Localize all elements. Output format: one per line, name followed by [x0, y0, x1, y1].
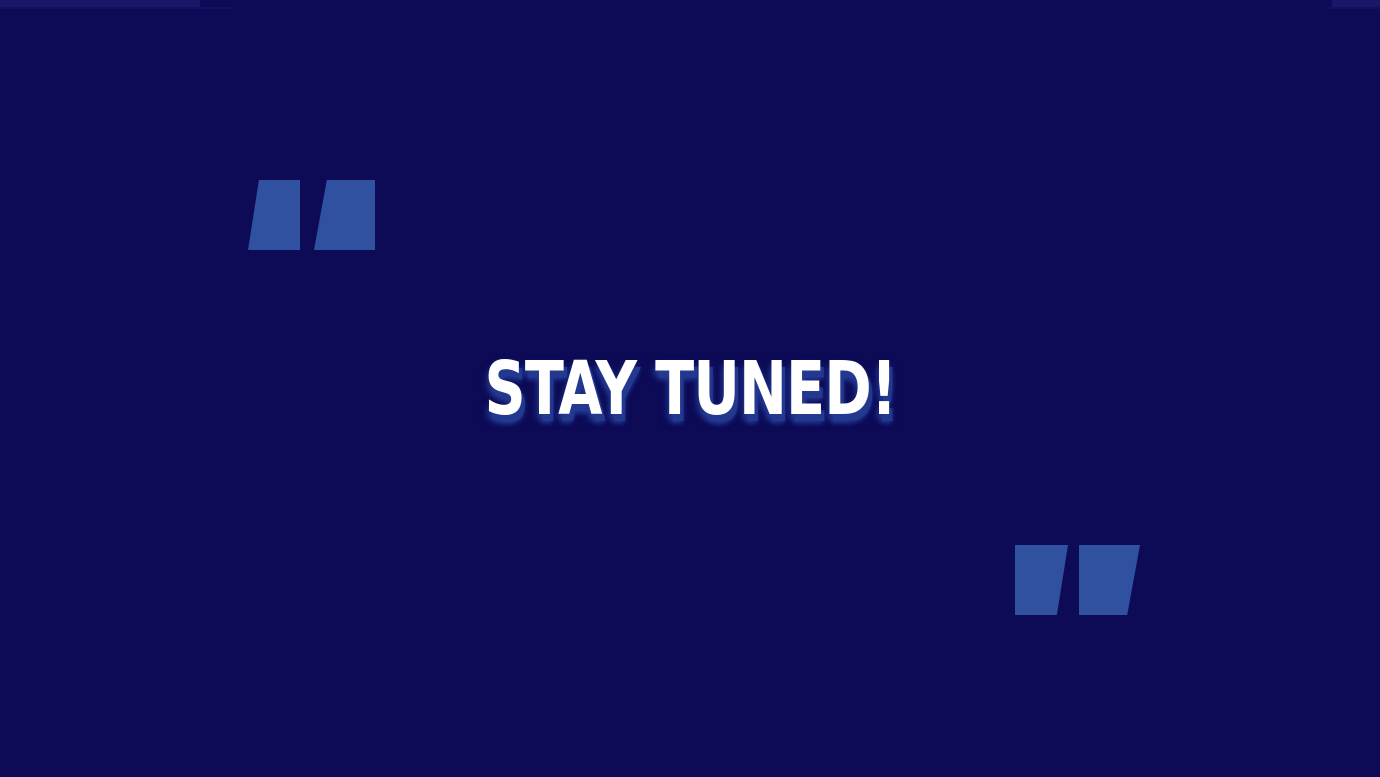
top-edge-band-right	[1332, 0, 1380, 7]
page-title: STAY TUNED!	[484, 352, 896, 426]
top-edge-band-left	[0, 0, 200, 7]
headline-container: STAY TUNED!	[0, 352, 1380, 426]
quote-open-icon	[248, 180, 375, 250]
quote-close-icon	[1015, 545, 1140, 615]
top-edge-hairline-left	[0, 7, 232, 9]
quote-open-slab-left	[248, 180, 300, 250]
stay-tuned-slide: STAY TUNED!	[0, 0, 1380, 777]
quote-close-slab-right	[1079, 545, 1140, 615]
quote-open-slab-right	[314, 180, 375, 250]
quote-close-slab-left	[1015, 545, 1068, 615]
top-edge-hairline-right	[1328, 7, 1380, 9]
